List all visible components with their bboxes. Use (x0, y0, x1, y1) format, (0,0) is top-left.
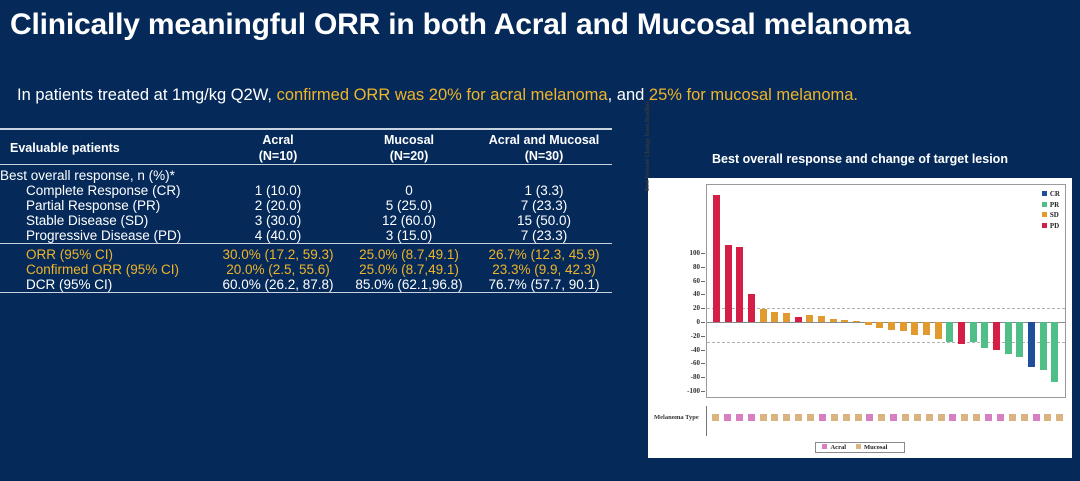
chart-title: Best overall response and change of targ… (648, 152, 1072, 166)
y-tick-label: -100 (687, 387, 700, 395)
cell-acral: 60.0% (26.2, 87.8) (214, 277, 342, 293)
melanoma-type-marker (961, 414, 968, 421)
table-row: Complete Response (CR)1 (10.0)01 (3.3) (0, 183, 612, 198)
chart-bar (713, 195, 720, 322)
chart-bar (1005, 322, 1012, 354)
cell-both: 26.7% (12.3, 45.9) (476, 247, 612, 262)
melanoma-type-marker (949, 414, 956, 421)
melanoma-type-marker (819, 414, 826, 421)
cell-mucosal: 85.0% (62.1,96.8) (342, 277, 476, 293)
legend-item: CR (1042, 189, 1060, 200)
chart-bar (771, 312, 778, 322)
legend-swatch (1042, 223, 1047, 228)
y-tick-label: -20 (691, 332, 700, 340)
row-label: ORR (95% CI) (0, 247, 214, 262)
cell-acral: 2 (20.0) (214, 198, 342, 213)
cell-acral: 1 (10.0) (214, 183, 342, 198)
chart-bar (970, 322, 977, 343)
melanoma-legend-item: Mucosal (856, 444, 887, 451)
page-title: Clinically meaningful ORR in both Acral … (10, 8, 1060, 42)
column-header-acral: Acral (N=10) (214, 133, 342, 165)
melanoma-type-markers (710, 414, 1066, 422)
legend-item: PD (1042, 221, 1060, 232)
column-header-patients: Evaluable patients (0, 133, 214, 165)
melanoma-type-marker (1033, 414, 1040, 421)
chart-bar (830, 319, 837, 322)
table-row: Confirmed ORR (95% CI)20.0% (2.5, 55.6)2… (0, 262, 612, 277)
melanoma-type-marker (1009, 414, 1016, 421)
row-label: Complete Response (CR) (0, 183, 214, 198)
y-tick-label: 80 (693, 263, 700, 271)
cell-mucosal: 0 (342, 183, 476, 198)
melanoma-type-marker (926, 414, 933, 421)
chart-legend: CRPRSDPD (1042, 189, 1060, 231)
melanoma-type-marker (866, 414, 873, 421)
chart-bar (876, 322, 883, 328)
melanoma-type-marker (771, 414, 778, 421)
chart-bar (795, 317, 802, 322)
chart-bar (888, 322, 895, 330)
melanoma-type-marker (938, 414, 945, 421)
chart-bars (711, 185, 1061, 397)
column-header-mucosal: Mucosal (N=20) (342, 133, 476, 165)
melanoma-type-marker (855, 414, 862, 421)
melanoma-type-marker (985, 414, 992, 421)
table-header-row: Evaluable patients Acral (N=10) Mucosal … (0, 133, 612, 165)
chart-bar (946, 322, 953, 343)
table-rule-bottom (0, 293, 612, 297)
chart-bar (760, 309, 767, 321)
chart-bar (993, 322, 1000, 351)
cell-both: 15 (50.0) (476, 213, 612, 228)
table-row: Progressive Disease (PD)4 (40.0)3 (15.0)… (0, 228, 612, 244)
chart-bar (853, 321, 860, 322)
chart-bar (1028, 322, 1035, 367)
melanoma-type-row: Melanoma Type (648, 406, 1072, 436)
chart-bar (806, 315, 813, 322)
chart-bar (958, 322, 965, 345)
cell-both: 76.7% (57.7, 90.1) (476, 277, 612, 293)
y-tick-label: -60 (691, 359, 700, 367)
cell-mucosal: 25.0% (8.7,49.1) (342, 262, 476, 277)
chart-bar (865, 322, 872, 325)
melanoma-type-marker (807, 414, 814, 421)
cell-mucosal: 3 (15.0) (342, 228, 476, 244)
melanoma-type-marker (973, 414, 980, 421)
chart-bar (841, 320, 848, 322)
y-tick-label: 40 (693, 290, 700, 298)
chart-bar (725, 245, 732, 322)
cell-acral: 4 (40.0) (214, 228, 342, 244)
melanoma-type-marker (890, 414, 897, 421)
legend-swatch (1042, 191, 1047, 196)
row-label: Partial Response (PR) (0, 198, 214, 213)
melanoma-type-marker (724, 414, 731, 421)
chart-bar (981, 322, 988, 348)
subtitle-highlight-acral: confirmed ORR was 20% for acral melanoma (277, 86, 608, 104)
chart-bar (748, 294, 755, 321)
legend-swatch (1042, 212, 1047, 217)
row-label: Progressive Disease (PD) (0, 228, 214, 244)
cell-mucosal: 25.0% (8.7,49.1) (342, 247, 476, 262)
row-label: Confirmed ORR (95% CI) (0, 262, 214, 277)
chart-bar (935, 322, 942, 339)
y-tick-label: 20 (693, 304, 700, 312)
melanoma-legend-item: Acral (822, 444, 846, 451)
y-tick-label: -80 (691, 373, 700, 381)
subtitle-text-1: In patients treated at 1mg/kg Q2W, (17, 86, 277, 104)
melanoma-type-marker (760, 414, 767, 421)
chart-bar (783, 313, 790, 322)
chart-bar (1040, 322, 1047, 370)
chart-bar (1016, 322, 1023, 358)
chart-plot-area: CRPRSDPD (706, 184, 1066, 398)
subtitle-highlight-mucosal: 25% for mucosal melanoma. (649, 86, 858, 104)
legend-swatch (1042, 202, 1047, 207)
table-section-label: Best overall response, n (%)* (0, 168, 612, 183)
melanoma-type-marker (748, 414, 755, 421)
melanoma-type-legend: AcralMucosal (648, 436, 1072, 454)
chart-y-axis-label: Best Percent Change from Baseline (645, 76, 651, 216)
melanoma-type-marker (902, 414, 909, 421)
chart-bar (1051, 322, 1058, 382)
results-table: Evaluable patients Acral (N=10) Mucosal … (0, 128, 612, 296)
melanoma-type-marker (914, 414, 921, 421)
chart-y-axis-ticks: 100806040200-20-40-60-80-100 (666, 184, 704, 398)
row-label: Stable Disease (SD) (0, 213, 214, 228)
chart-bar (818, 316, 825, 321)
melanoma-type-marker (1044, 414, 1051, 421)
chart-bar (736, 247, 743, 322)
cell-mucosal: 12 (60.0) (342, 213, 476, 228)
table-row: Stable Disease (SD)3 (30.0)12 (60.0)15 (… (0, 213, 612, 228)
melanoma-type-marker (783, 414, 790, 421)
table-row: ORR (95% CI)30.0% (17.2, 59.3)25.0% (8.7… (0, 247, 612, 262)
cell-both: 7 (23.3) (476, 198, 612, 213)
chart-bar (923, 322, 930, 335)
y-tick-label: 0 (697, 318, 701, 326)
melanoma-legend-swatch (822, 444, 827, 449)
melanoma-type-marker (878, 414, 885, 421)
cell-both: 23.3% (9.9, 42.3) (476, 262, 612, 277)
melanoma-type-marker (1021, 414, 1028, 421)
melanoma-type-marker (843, 414, 850, 421)
column-header-both: Acral and Mucosal (N=30) (476, 133, 612, 165)
melanoma-type-marker (997, 414, 1004, 421)
cell-acral: 3 (30.0) (214, 213, 342, 228)
cell-mucosal: 5 (25.0) (342, 198, 476, 213)
subtitle-text-2: , and (608, 86, 649, 104)
melanoma-type-marker (795, 414, 802, 421)
melanoma-type-divider (706, 406, 707, 436)
cell-acral: 20.0% (2.5, 55.6) (214, 262, 342, 277)
melanoma-type-legend-box: AcralMucosal (815, 442, 904, 453)
melanoma-type-marker (736, 414, 743, 421)
y-tick-label: -40 (691, 346, 700, 354)
melanoma-type-marker (712, 414, 719, 421)
chart-bar (900, 322, 907, 332)
table-row: DCR (95% CI)60.0% (26.2, 87.8)85.0% (62.… (0, 277, 612, 293)
y-tick-label: 60 (693, 277, 700, 285)
melanoma-type-marker (1056, 414, 1063, 421)
melanoma-type-label: Melanoma Type (654, 414, 704, 421)
slide-subtitle: In patients treated at 1mg/kg Q2W, confi… (17, 86, 1077, 105)
cell-acral: 30.0% (17.2, 59.3) (214, 247, 342, 262)
chart-bar (911, 322, 918, 336)
melanoma-type-marker (831, 414, 838, 421)
waterfall-chart: Best Percent Change from Baseline 100806… (648, 178, 1072, 458)
legend-item: SD (1042, 210, 1060, 221)
row-label: DCR (95% CI) (0, 277, 214, 293)
cell-both: 7 (23.3) (476, 228, 612, 244)
legend-item: PR (1042, 200, 1060, 211)
cell-both: 1 (3.3) (476, 183, 612, 198)
table-row: Partial Response (PR)2 (20.0)5 (25.0)7 (… (0, 198, 612, 213)
melanoma-legend-swatch (856, 444, 861, 449)
y-tick-label: 100 (690, 249, 701, 257)
